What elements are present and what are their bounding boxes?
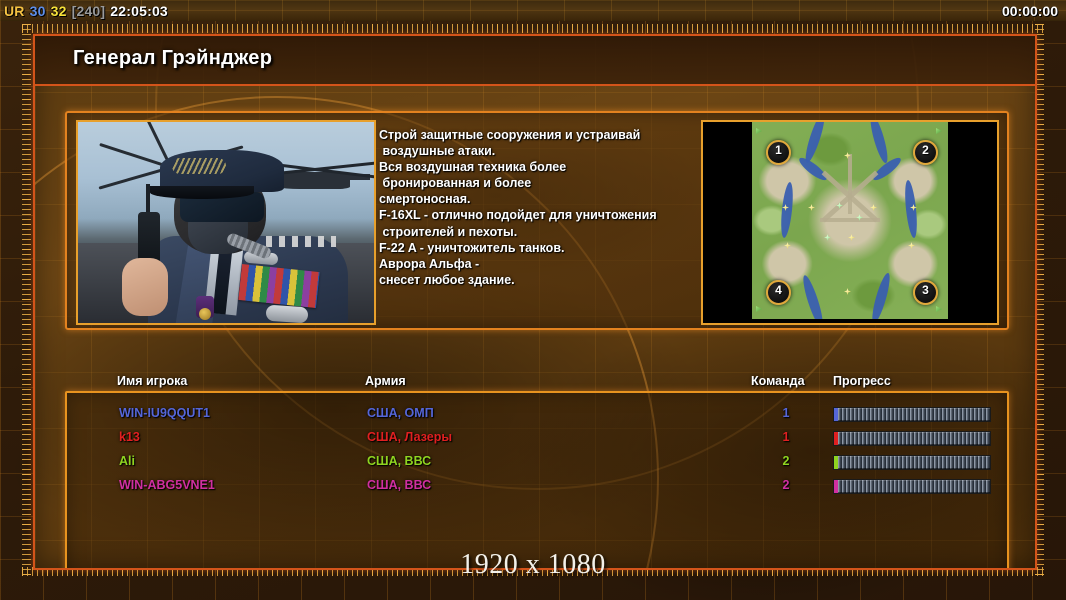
status-counters: UR 30 32 [240] 22:05:03 bbox=[4, 0, 168, 21]
general-info-box: Строй защитные сооружения и устраивай во… bbox=[65, 111, 1009, 330]
player-team: 1 bbox=[779, 430, 793, 444]
title-strip: Генерал Грэйнджер bbox=[35, 36, 1035, 86]
player-army: США, Лазеры bbox=[367, 430, 452, 444]
column-header-progress: Прогресс bbox=[833, 374, 891, 388]
general-portrait bbox=[76, 120, 376, 325]
minimap-start-position-2[interactable]: 2 bbox=[913, 140, 938, 165]
clock-right: 00:00:00 bbox=[1002, 0, 1058, 21]
counter-bracket: [240] bbox=[72, 3, 106, 19]
column-header-army: Армия bbox=[365, 374, 406, 388]
player-name: WIN-ABG5VNE1 bbox=[119, 478, 215, 492]
player-team: 2 bbox=[779, 454, 793, 468]
player-army: США, ВВС bbox=[367, 454, 431, 468]
player-team: 1 bbox=[779, 406, 793, 420]
player-army: США, ВВС bbox=[367, 478, 431, 492]
table-row[interactable]: WIN-IU9QQUT1США, ОМП1 bbox=[67, 403, 1007, 427]
player-progress-bar bbox=[833, 455, 991, 470]
player-list: WIN-IU9QQUT1США, ОМП1k13США, Лазеры1AliС… bbox=[65, 391, 1009, 570]
column-header-team: Команда bbox=[751, 374, 805, 388]
app-background: UR 30 32 [240] 22:05:03 00:00:00 Генерал… bbox=[0, 0, 1066, 600]
player-name: WIN-IU9QQUT1 bbox=[119, 406, 210, 420]
top-status-bar: UR 30 32 [240] 22:05:03 00:00:00 bbox=[0, 0, 1066, 21]
player-name: Ali bbox=[119, 454, 135, 468]
table-row[interactable]: AliСША, ВВС2 bbox=[67, 451, 1007, 475]
minimap-terrain: 1 2 3 4 bbox=[752, 122, 948, 319]
player-progress-bar bbox=[833, 431, 991, 446]
player-progress-bar bbox=[833, 479, 991, 494]
column-header-name: Имя игрока bbox=[117, 374, 187, 388]
ur-label: UR bbox=[4, 3, 25, 19]
clock-left: 22:05:03 bbox=[110, 3, 168, 19]
minimap-start-position-4[interactable]: 4 bbox=[766, 280, 791, 305]
table-row[interactable]: k13США, Лазеры1 bbox=[67, 427, 1007, 451]
table-row[interactable]: WIN-ABG5VNE1США, ВВС2 bbox=[67, 475, 1007, 499]
minimap: 1 2 3 4 bbox=[701, 120, 999, 325]
main-panel: Генерал Грэйнджер bbox=[33, 34, 1037, 570]
player-progress-fill bbox=[834, 456, 838, 469]
rank-stars-icon bbox=[266, 236, 336, 247]
page-title: Генерал Грэйнджер bbox=[73, 47, 272, 70]
counter-yellow: 32 bbox=[51, 3, 67, 19]
player-team: 2 bbox=[779, 478, 793, 492]
player-progress-fill bbox=[834, 408, 838, 421]
minimap-start-position-3[interactable]: 3 bbox=[913, 280, 938, 305]
officer-figure bbox=[116, 148, 352, 325]
player-progress-bar bbox=[833, 407, 991, 422]
resolution-label: 1920 x 1080 bbox=[0, 549, 1066, 581]
counter-blue: 30 bbox=[30, 3, 46, 19]
ruler-top bbox=[22, 24, 1044, 33]
player-name: k13 bbox=[119, 430, 140, 444]
general-description: Строй защитные сооружения и устраивай во… bbox=[379, 119, 691, 327]
medal-icon bbox=[196, 296, 214, 318]
player-progress-fill bbox=[834, 432, 838, 445]
ruler-left bbox=[22, 24, 31, 576]
player-army: США, ОМП bbox=[367, 406, 434, 420]
minimap-start-position-1[interactable]: 1 bbox=[766, 140, 791, 165]
chest-badge-icon bbox=[265, 305, 308, 324]
player-progress-fill bbox=[834, 480, 838, 493]
